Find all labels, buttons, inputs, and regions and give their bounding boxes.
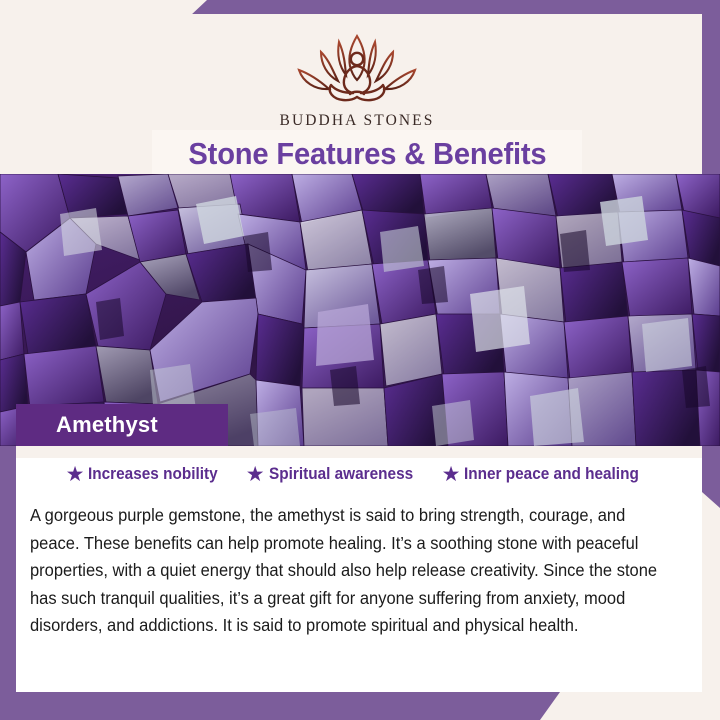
- panel-top-strip: [16, 446, 702, 458]
- star-icon: ★: [442, 464, 461, 485]
- header: BUDDHA STONES Stone Features & Benefits: [12, 14, 702, 176]
- stone-description: A gorgeous purple gemstone, the amethyst…: [30, 502, 666, 640]
- benefit-label: Increases nobility: [88, 465, 218, 484]
- benefits-list: ★ Increases nobility ★ Spiritual awarene…: [16, 464, 702, 485]
- stone-name: Amethyst: [56, 412, 158, 438]
- page-title-plate: Stone Features & Benefits: [152, 130, 582, 178]
- star-icon: ★: [246, 464, 265, 485]
- brand-wordmark: BUDDHA STONES: [280, 112, 435, 130]
- benefit-label: Spiritual awareness: [269, 465, 413, 484]
- lotus-meditation-icon: [281, 30, 433, 108]
- benefit-label: Inner peace and healing: [464, 465, 639, 484]
- benefit-item-1: ★ Increases nobility: [66, 464, 228, 485]
- page-title: Stone Features & Benefits: [188, 136, 546, 172]
- content-panel: ★ Increases nobility ★ Spiritual awarene…: [16, 446, 702, 692]
- brand-logo: BUDDHA STONES: [12, 30, 702, 130]
- decorative-bottom-bar: [0, 692, 560, 720]
- benefit-item-3: ★ Inner peace and healing: [442, 464, 653, 485]
- infographic-page: BUDDHA STONES Stone Features & Benefits: [0, 0, 720, 720]
- stone-name-banner: Amethyst: [16, 404, 228, 446]
- benefit-item-2: ★ Spiritual awareness: [246, 464, 424, 485]
- star-icon: ★: [66, 464, 85, 485]
